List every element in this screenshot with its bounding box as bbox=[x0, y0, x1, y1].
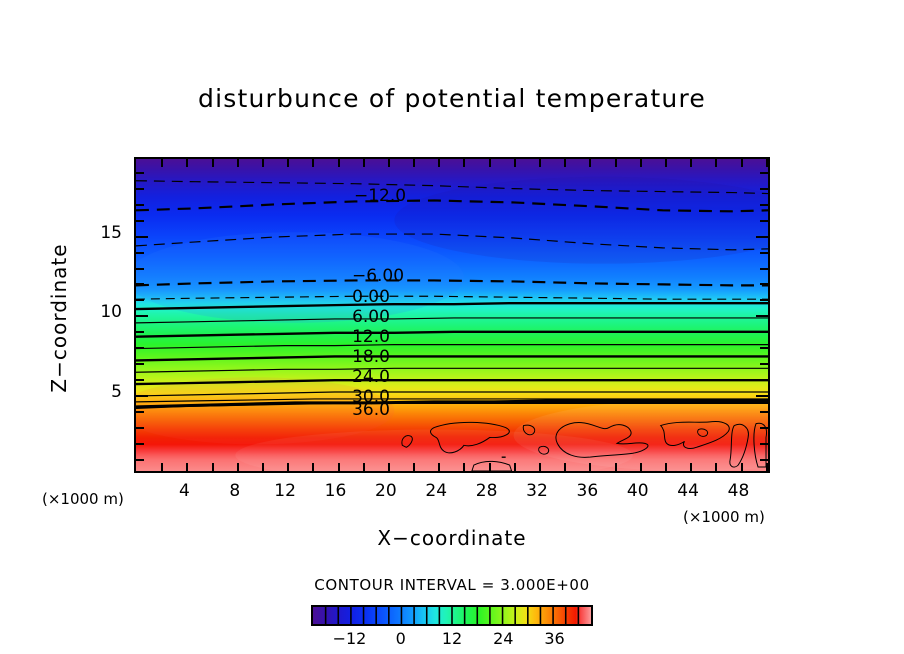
x-axis-tick bbox=[338, 463, 340, 471]
y-tick-label: 5 bbox=[82, 382, 122, 402]
y-axis-tick bbox=[136, 443, 144, 445]
y-axis-tick bbox=[760, 220, 768, 222]
x-unit-right: (×1000 m) bbox=[683, 508, 765, 526]
y-axis-tick bbox=[760, 379, 768, 381]
x-axis-tick bbox=[539, 463, 541, 471]
colorbar-tick-label: 0 bbox=[381, 629, 421, 648]
x-tick-label: 36 bbox=[567, 481, 607, 501]
y-axis-tick bbox=[136, 315, 148, 317]
colorbar-gradient bbox=[313, 607, 591, 624]
x-axis-tick bbox=[262, 159, 264, 167]
y-axis-tick bbox=[760, 347, 768, 349]
x-axis-tick bbox=[287, 159, 289, 167]
x-axis-title: X−coordinate bbox=[0, 526, 904, 550]
y-axis-tick bbox=[760, 411, 768, 413]
x-axis-tick bbox=[690, 159, 692, 167]
y-axis-tick bbox=[136, 252, 144, 254]
colorbar-tick-label: 24 bbox=[483, 629, 523, 648]
x-tick-label: 8 bbox=[215, 481, 255, 501]
x-tick-label: 48 bbox=[719, 481, 759, 501]
y-axis-tick bbox=[136, 427, 144, 429]
x-axis-tick bbox=[338, 159, 340, 167]
y-axis-tick bbox=[760, 331, 768, 333]
contour-label: 0.00 bbox=[352, 287, 390, 307]
x-axis-tick bbox=[589, 463, 591, 471]
x-tick-label: 40 bbox=[618, 481, 658, 501]
x-axis-tick bbox=[312, 159, 314, 167]
x-axis-tick bbox=[741, 159, 743, 167]
contour-label: 36.0 bbox=[352, 400, 390, 420]
y-axis-tick bbox=[756, 395, 768, 397]
x-axis-tick bbox=[186, 463, 188, 471]
x-tick-label: 16 bbox=[316, 481, 356, 501]
contour-label: 18.0 bbox=[352, 347, 390, 367]
x-axis-tick bbox=[640, 159, 642, 167]
x-axis-tick bbox=[463, 463, 465, 471]
colorbar-tick-label: 12 bbox=[432, 629, 472, 648]
x-tick-label: 24 bbox=[416, 481, 456, 501]
colorbar-tick-label: 36 bbox=[535, 629, 575, 648]
x-axis-tick bbox=[413, 159, 415, 167]
x-tick-label: 28 bbox=[467, 481, 507, 501]
contour-lines bbox=[136, 159, 768, 471]
y-axis-tick bbox=[760, 252, 768, 254]
contour-label: −6.00 bbox=[352, 266, 404, 286]
x-axis-tick bbox=[766, 159, 768, 167]
contour-label: 6.00 bbox=[352, 307, 390, 327]
x-axis-tick bbox=[388, 463, 390, 471]
y-axis-tick bbox=[760, 172, 768, 174]
y-axis-tick bbox=[136, 379, 144, 381]
y-axis-tick bbox=[136, 459, 144, 461]
y-axis-tick bbox=[136, 299, 144, 301]
x-axis-tick bbox=[615, 159, 617, 167]
x-axis-tick bbox=[438, 159, 440, 167]
page-title: disturbunce of potential temperature bbox=[0, 84, 904, 113]
x-axis-tick bbox=[212, 463, 214, 471]
x-axis-tick bbox=[615, 463, 617, 471]
x-axis-tick bbox=[237, 159, 239, 167]
x-axis-tick bbox=[413, 463, 415, 471]
contour-label: 24.0 bbox=[352, 367, 390, 387]
x-axis-tick bbox=[463, 159, 465, 167]
y-axis-tick bbox=[760, 204, 768, 206]
x-axis-tick bbox=[665, 463, 667, 471]
x-axis-tick bbox=[212, 159, 214, 167]
x-axis-tick bbox=[489, 159, 491, 167]
y-axis-tick bbox=[756, 315, 768, 317]
x-tick-label: 32 bbox=[517, 481, 557, 501]
x-axis-tick bbox=[237, 463, 239, 471]
x-axis-tick bbox=[312, 463, 314, 471]
contour-interval-caption: CONTOUR INTERVAL = 3.000E+00 bbox=[0, 576, 904, 594]
y-tick-label: 15 bbox=[82, 223, 122, 243]
y-tick-label: 10 bbox=[82, 302, 122, 322]
x-axis-tick bbox=[363, 159, 365, 167]
y-axis-tick bbox=[136, 172, 144, 174]
figure-canvas: disturbunce of potential temperature bbox=[0, 0, 904, 654]
x-axis-tick bbox=[161, 463, 163, 471]
x-axis-tick bbox=[489, 463, 491, 471]
x-tick-label: 12 bbox=[265, 481, 305, 501]
x-tick-label: 4 bbox=[164, 481, 204, 501]
y-axis-tick bbox=[760, 268, 768, 270]
y-axis-tick bbox=[136, 236, 148, 238]
y-axis-tick bbox=[136, 331, 144, 333]
x-axis-tick bbox=[766, 463, 768, 471]
y-axis-tick bbox=[760, 299, 768, 301]
x-tick-label: 44 bbox=[668, 481, 708, 501]
y-axis-tick bbox=[136, 283, 144, 285]
y-axis-tick bbox=[136, 411, 144, 413]
y-axis-tick bbox=[760, 188, 768, 190]
y-axis-tick bbox=[136, 220, 144, 222]
colorbar-tick-label: −12 bbox=[329, 629, 369, 648]
x-axis-tick bbox=[514, 463, 516, 471]
y-axis-tick bbox=[136, 363, 144, 365]
x-axis-tick bbox=[690, 463, 692, 471]
y-axis-tick bbox=[760, 427, 768, 429]
y-axis-tick bbox=[136, 204, 144, 206]
y-axis-tick bbox=[760, 363, 768, 365]
x-axis-tick bbox=[640, 463, 642, 471]
x-axis-tick bbox=[161, 159, 163, 167]
y-axis-tick bbox=[760, 283, 768, 285]
y-axis-tick bbox=[136, 268, 144, 270]
y-axis-tick bbox=[136, 395, 148, 397]
x-axis-tick bbox=[741, 463, 743, 471]
x-axis-tick bbox=[589, 159, 591, 167]
colorbar bbox=[311, 605, 593, 626]
x-axis-tick bbox=[539, 159, 541, 167]
y-axis-tick bbox=[760, 459, 768, 461]
x-axis-tick bbox=[363, 463, 365, 471]
y-axis-tick bbox=[756, 236, 768, 238]
x-axis-tick bbox=[715, 463, 717, 471]
y-axis-tick bbox=[136, 188, 144, 190]
x-axis-tick bbox=[665, 159, 667, 167]
x-unit-left: (×1000 m) bbox=[42, 490, 124, 508]
x-axis-tick bbox=[287, 463, 289, 471]
contour-label: −12.0 bbox=[354, 186, 406, 206]
x-axis-tick bbox=[186, 159, 188, 167]
y-axis-tick bbox=[760, 443, 768, 445]
x-axis-tick bbox=[388, 159, 390, 167]
x-axis-tick bbox=[564, 159, 566, 167]
contour-plot-area bbox=[134, 157, 770, 473]
y-axis-tick bbox=[136, 347, 144, 349]
x-axis-tick bbox=[438, 463, 440, 471]
contour-label: 12.0 bbox=[352, 327, 390, 347]
x-tick-label: 20 bbox=[366, 481, 406, 501]
y-axis-title: Z−coordinate bbox=[47, 223, 71, 413]
x-axis-tick bbox=[715, 159, 717, 167]
x-axis-tick bbox=[564, 463, 566, 471]
x-axis-tick bbox=[514, 159, 516, 167]
x-axis-tick bbox=[262, 463, 264, 471]
